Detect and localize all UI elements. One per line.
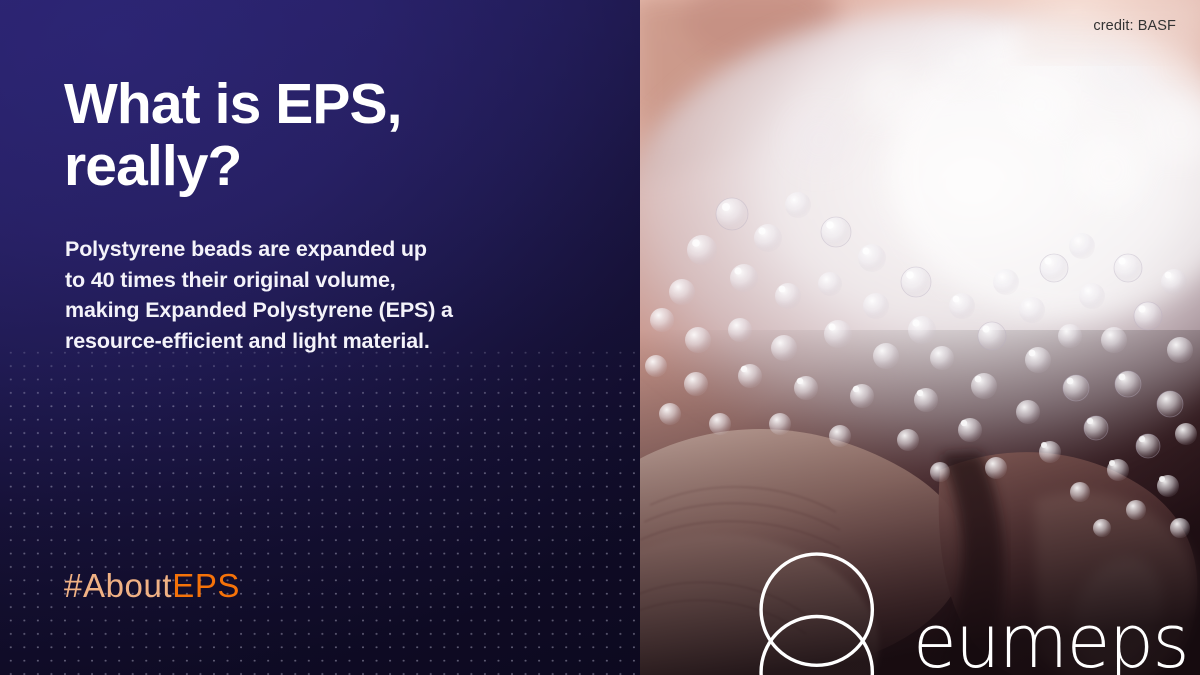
promo-graphic: What is EPS, really? Polystyrene beads a…	[0, 0, 1200, 675]
description-text: Polystyrene beads are expanded up to 40 …	[65, 234, 527, 356]
campaign-hashtag[interactable]: #AboutEPS	[64, 567, 240, 605]
hashtag-suffix: EPS	[172, 567, 240, 604]
page-title: What is EPS, really?	[64, 74, 584, 197]
left-text-panel: What is EPS, really? Polystyrene beads a…	[0, 0, 640, 675]
photo-credit: credit: BASF	[1093, 18, 1176, 34]
two-overlapping-circles-icon	[738, 550, 895, 675]
hashtag-prefix: #About	[64, 567, 172, 604]
eumeps-logo[interactable]: eumeps	[738, 550, 1200, 675]
product-photo: credit: BASF eumeps	[640, 0, 1200, 675]
eumeps-wordmark: eumeps	[913, 612, 1188, 673]
left-panel-content: What is EPS, really? Polystyrene beads a…	[0, 0, 640, 675]
